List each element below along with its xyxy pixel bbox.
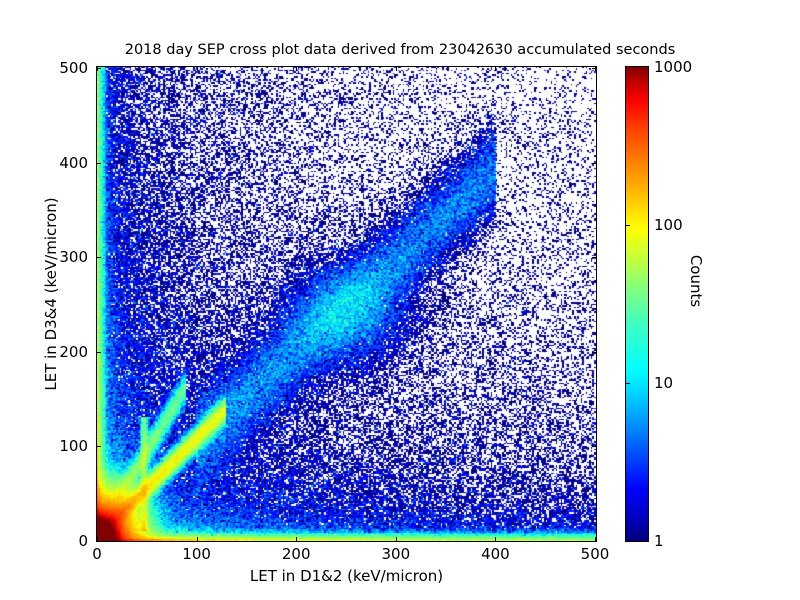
colorbar-gradient (625, 66, 649, 542)
y-tick-label: 300 (59, 248, 88, 266)
x-tick-mark (396, 537, 397, 542)
x-tick-label: 100 (182, 545, 211, 563)
y-axis-label: LET in D3&4 (keV/micron) (42, 174, 60, 414)
x-tick-mark-top (197, 66, 198, 71)
x-axis-label: LET in D1&2 (keV/micron) (96, 567, 597, 585)
y-tick-mark (96, 257, 101, 258)
y-tick-label: 200 (59, 343, 88, 361)
y-tick-mark (96, 541, 101, 542)
x-tick-label: 400 (481, 545, 510, 563)
y-tick-mark (96, 68, 101, 69)
y-tick-mark-right (592, 68, 597, 69)
colorbar-tick-mark (625, 225, 630, 226)
colorbar-tick-label: 10 (654, 374, 673, 392)
colorbar-tick-label: 1000 (654, 58, 692, 76)
x-tick-mark-top (495, 66, 496, 71)
x-tick-mark (296, 537, 297, 542)
y-tick-mark (96, 163, 101, 164)
y-tick-label: 400 (59, 154, 88, 172)
y-tick-label: 100 (59, 437, 88, 455)
y-tick-mark-right (592, 257, 597, 258)
y-tick-mark-right (592, 446, 597, 447)
y-tick-label: 500 (59, 59, 88, 77)
x-tick-label: 300 (381, 545, 410, 563)
colorbar-tick-label: 100 (654, 216, 683, 234)
x-tick-mark-top (296, 66, 297, 71)
x-tick-mark-top (396, 66, 397, 71)
x-tick-label: 200 (282, 545, 311, 563)
colorbar-label: Counts (687, 216, 705, 346)
y-tick-mark-right (592, 541, 597, 542)
scatter-density-canvas (97, 67, 596, 541)
colorbar-tick-label: 1 (654, 532, 664, 550)
y-tick-label: 0 (78, 532, 88, 550)
figure: 2018 day SEP cross plot data derived fro… (0, 0, 800, 600)
y-tick-mark (96, 446, 101, 447)
y-tick-mark-right (592, 352, 597, 353)
chart-title-line-1: 2018 day SEP cross plot data derived fro… (0, 42, 800, 60)
colorbar-tick-mark (625, 383, 630, 384)
x-tick-label: 0 (92, 545, 102, 563)
y-tick-mark-right (592, 163, 597, 164)
x-tick-mark (495, 537, 496, 542)
plot-area (96, 66, 597, 542)
colorbar (625, 66, 649, 542)
x-tick-label: 500 (581, 545, 610, 563)
y-tick-mark (96, 352, 101, 353)
x-tick-mark (197, 537, 198, 542)
